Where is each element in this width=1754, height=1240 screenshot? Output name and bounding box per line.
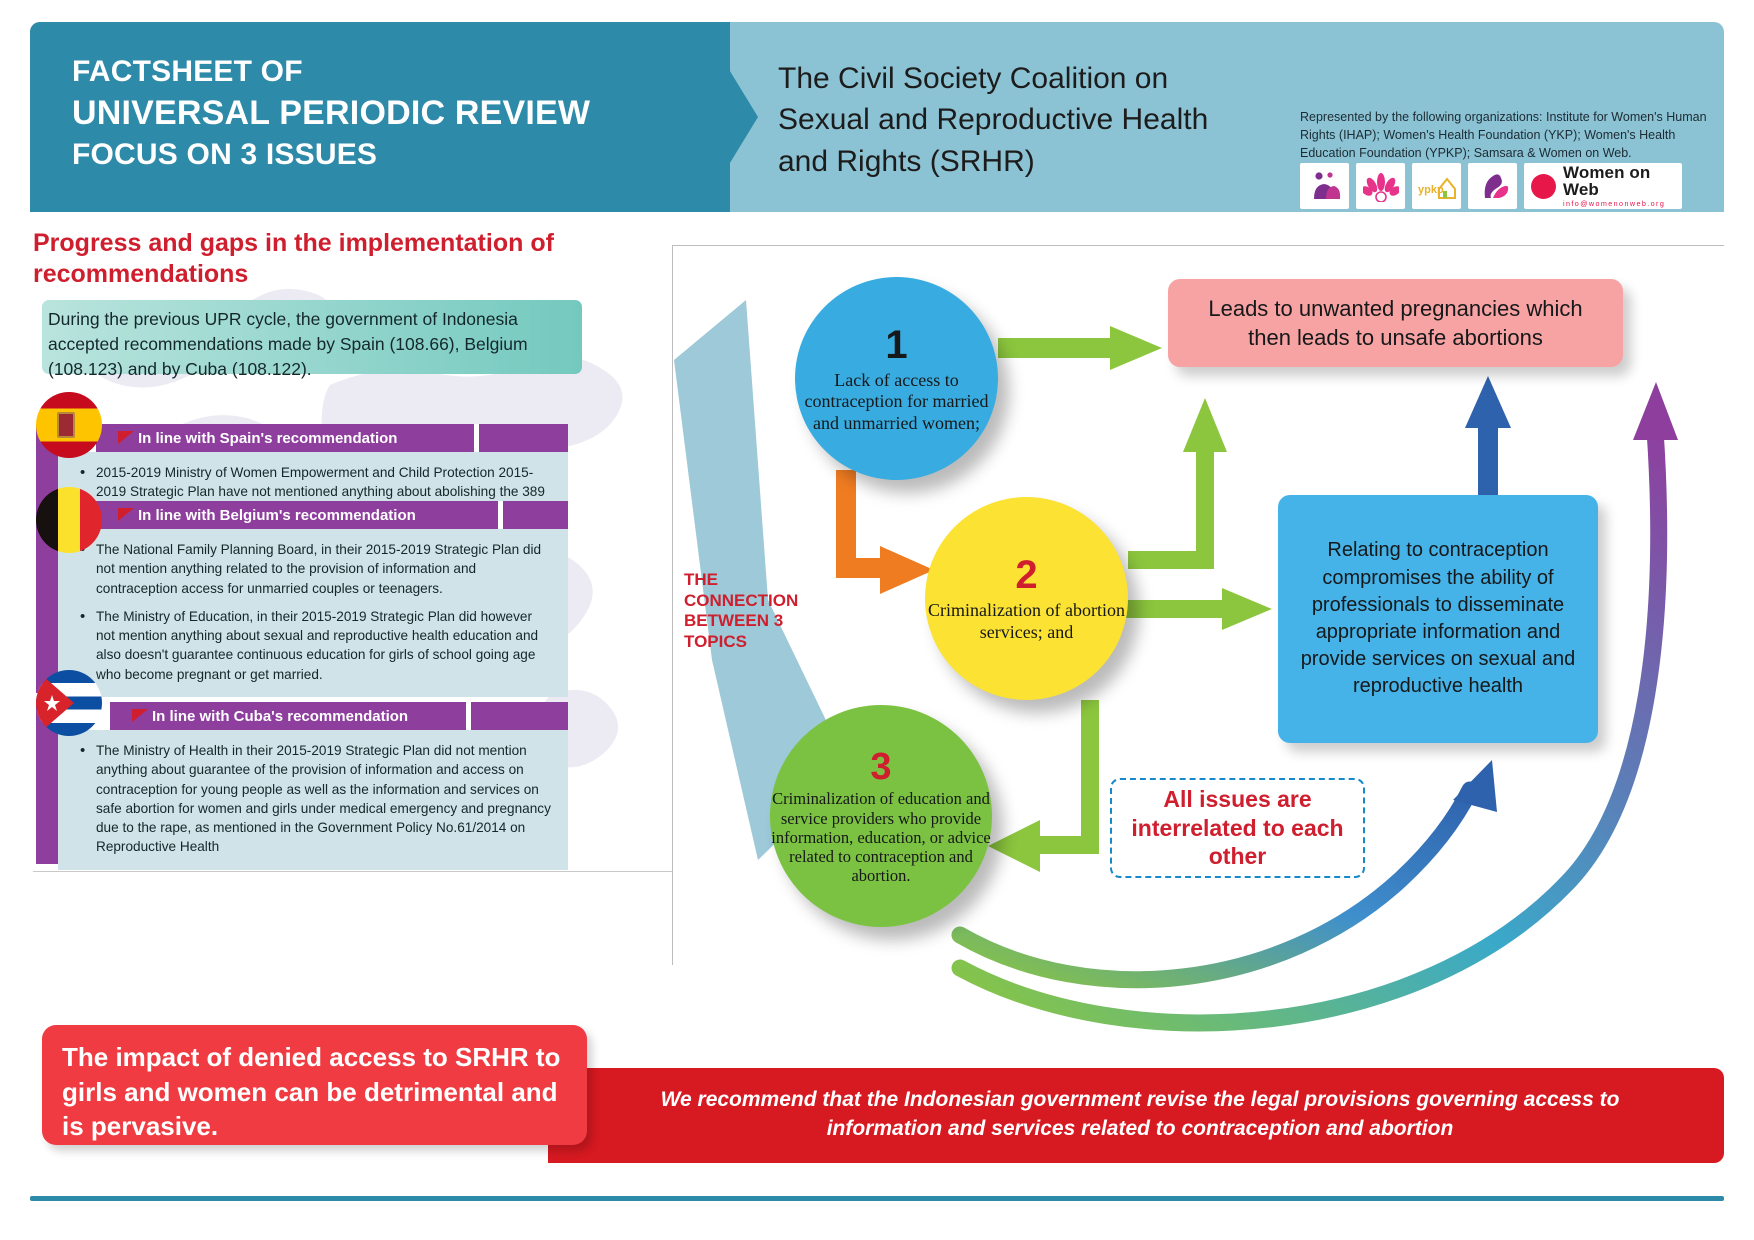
list-item: The Ministry of Education, in their 2015… <box>80 607 554 684</box>
samsara-icon <box>1477 170 1509 202</box>
samsara-logo <box>1468 163 1517 209</box>
footer-rule <box>30 1196 1724 1201</box>
svg-text:ypkp: ypkp <box>1418 184 1444 196</box>
ihap-logo-icon <box>1308 169 1342 203</box>
recommendation-text: We recommend that the Indonesian governm… <box>600 1086 1680 1144</box>
node-1-text: Lack of access to contraception for marr… <box>795 370 998 434</box>
cuba-bar-triangle-icon <box>132 709 148 722</box>
cuba-star-icon <box>43 694 61 712</box>
diagram-node-3[interactable]: 3 Criminalization of education and servi… <box>770 705 992 927</box>
outcome-box-text: Leads to unwanted pregnancies which then… <box>1188 294 1603 352</box>
women-on-web-dot-icon <box>1531 174 1556 199</box>
interrelated-note-text: All issues are interrelated to each othe… <box>1112 785 1363 871</box>
cuba-bar-label: In line with Cuba's recommendation <box>110 708 408 725</box>
node-3-number: 3 <box>870 746 891 789</box>
women-on-web-title: Women on Web <box>1563 164 1682 198</box>
diagram-node-1[interactable]: 1 Lack of access to contraception for ma… <box>795 277 998 480</box>
intro-text: During the previous UPR cycle, the gover… <box>48 307 568 382</box>
page-title: FACTSHEET OF UNIVERSAL PERIODIC REVIEW F… <box>72 52 692 174</box>
list-item: The National Family Planning Board, in t… <box>80 540 554 598</box>
list-item: The Ministry of Health in their 2015-201… <box>80 741 554 857</box>
node-3-text: Criminalization of education and service… <box>770 789 992 885</box>
ihap-logo <box>1300 163 1349 209</box>
cuba-flag <box>36 670 102 736</box>
belgium-bar: In line with Belgium's recommendation <box>96 501 568 529</box>
node-1-number: 1 <box>885 323 907 368</box>
spain-bar-label: In line with Spain's recommendation <box>96 430 397 447</box>
women-on-web-subtitle: info@womenonweb.org <box>1563 200 1682 207</box>
organizations-note: Represented by the following organizatio… <box>1300 108 1730 162</box>
outcome-box[interactable]: Leads to unwanted pregnancies which then… <box>1168 279 1623 367</box>
diagram-node-2[interactable]: 2 Criminalization of abortion services; … <box>925 497 1128 700</box>
ykp-logo <box>1356 163 1405 209</box>
header-arrow-shape <box>700 22 758 212</box>
effect-box-text: Relating to contraception compromises th… <box>1298 537 1578 700</box>
ypkp-house-icon: ypkp <box>1417 171 1457 201</box>
belgium-bar-label: In line with Belgium's recommendation <box>96 507 416 524</box>
connection-label: THE CONNECTION BETWEEN 3 TOPICS <box>684 570 814 653</box>
title-line-3: FOCUS ON 3 ISSUES <box>72 135 692 174</box>
title-line-1: FACTSHEET OF <box>72 52 692 91</box>
spain-bar: In line with Spain's recommendation <box>96 424 568 452</box>
ykp-lotus-icon <box>1363 170 1399 202</box>
title-line-2: UNIVERSAL PERIODIC REVIEW <box>72 91 692 135</box>
impact-text: The impact of denied access to SRHR to g… <box>62 1040 572 1144</box>
cuba-bar: In line with Cuba's recommendation <box>110 702 568 730</box>
node-2-text: Criminalization of abortion services; an… <box>925 600 1128 643</box>
spain-flag <box>36 392 102 458</box>
effect-box[interactable]: Relating to contraception compromises th… <box>1278 495 1598 743</box>
belgium-bar-triangle-icon <box>118 508 134 521</box>
spain-bar-triangle-icon <box>118 431 134 444</box>
left-section-heading: Progress and gaps in the implementation … <box>33 228 593 291</box>
node-2-number: 2 <box>1015 553 1037 598</box>
infographic-page: FACTSHEET OF UNIVERSAL PERIODIC REVIEW F… <box>0 0 1754 1240</box>
coalition-title: The Civil Society Coalition on Sexual an… <box>778 58 1218 182</box>
interrelated-note: All issues are interrelated to each othe… <box>1110 778 1365 878</box>
ypkp-logo: ypkp <box>1412 163 1461 209</box>
cuba-body: The Ministry of Health in their 2015-201… <box>58 730 568 870</box>
partner-logos: ypkp Women on Web info@womenonweb.org <box>1300 163 1682 209</box>
women-on-web-logo: Women on Web info@womenonweb.org <box>1524 163 1682 209</box>
belgium-flag <box>36 487 102 553</box>
belgium-body: The National Family Planning Board, in t… <box>58 529 568 697</box>
